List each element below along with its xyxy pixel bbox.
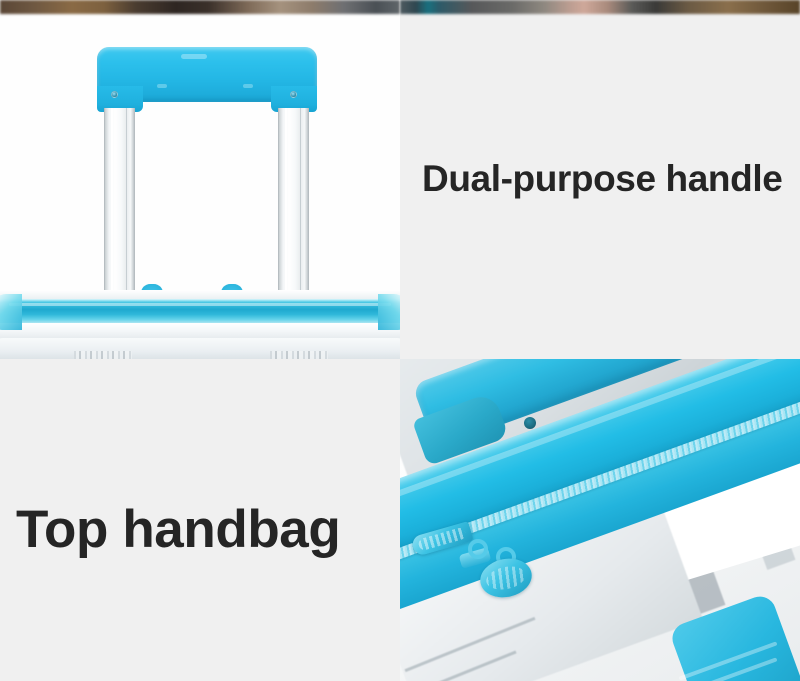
case-rail-teal-band [0,299,400,324]
top-handbag-caption: Top handbag [0,359,400,681]
handle-vent-right [243,84,253,88]
case-corner-right [378,294,400,330]
case-rail-clear-lower [0,338,400,359]
blurred-top-strip [400,0,800,14]
top-handle-closeup-photo [400,359,800,681]
handle-vent-left [157,84,167,88]
case-corner-left [0,294,22,330]
blurred-top-strip [0,0,400,14]
handle-screw-right [290,91,297,98]
zipper-ring-left [468,539,488,559]
caption-label-dual-purpose-handle: Dual-purpose handle [400,160,782,199]
handle-tube-right [278,108,309,296]
case-texture-right [270,351,328,359]
handle-screw-left [111,91,118,98]
telescoping-handle-photo [0,0,400,359]
rear-handle-screw [524,417,536,429]
case-texture-left [74,351,132,359]
feature-collage: Dual-purpose handle Top handbag [0,0,800,681]
caption-label-top-handbag: Top handbag [0,502,340,558]
suitcase-top-edge [0,290,400,359]
dual-purpose-handle-caption: Dual-purpose handle [400,0,800,359]
handle-tube-left [104,108,135,296]
